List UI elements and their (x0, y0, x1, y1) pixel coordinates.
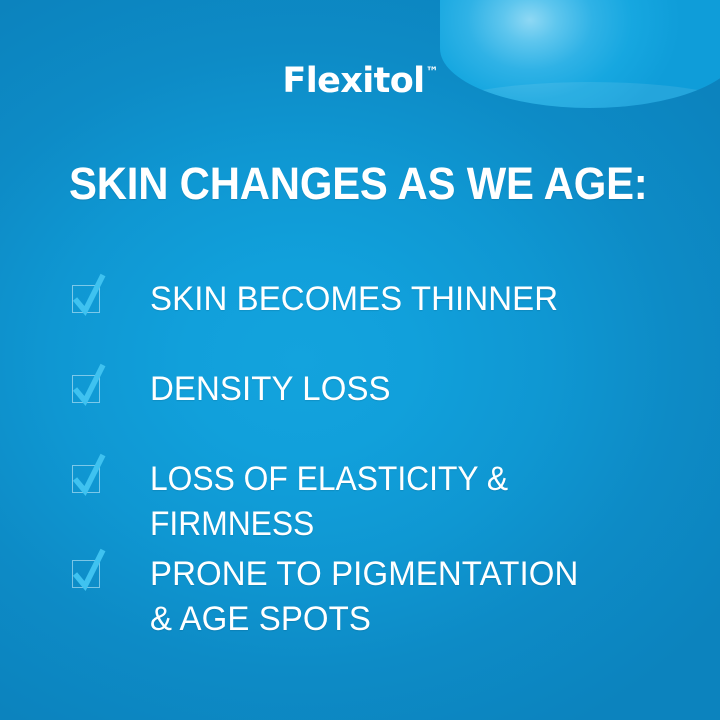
checklist: SKIN BECOMES THINNER DENSITY LOSS LOSS O… (70, 272, 710, 647)
checklist-item-label-4-line1: PRONE TO PIGMENTATION (150, 555, 578, 593)
checklist-item-label-2: DENSITY LOSS (150, 362, 693, 412)
checklist-item-4: PRONE TO PIGMENTATION & AGE SPOTS (70, 547, 710, 647)
checklist-item-3: LOSS OF ELASTICITY & FIRMNESS (70, 452, 710, 547)
checklist-item-label-3: LOSS OF ELASTICITY & FIRMNESS (150, 452, 674, 547)
checkmark-icon (69, 452, 115, 500)
brand-name-text: Flexitol (282, 61, 424, 101)
checkmark-icon (69, 547, 115, 595)
poster-canvas: Flexitol™ SKIN CHANGES AS WE AGE: SKIN B… (0, 0, 720, 720)
page-title: SKIN CHANGES AS WE AGE: (69, 160, 648, 208)
checkbox-2[interactable] (70, 362, 150, 412)
checklist-item-label-1: SKIN BECOMES THINNER (150, 272, 693, 322)
checkbox-4[interactable] (70, 547, 150, 597)
checklist-item-2: DENSITY LOSS (70, 362, 710, 452)
checklist-item-label-4-line2: & AGE SPOTS (150, 597, 693, 642)
checkbox-3[interactable] (70, 452, 150, 502)
checkmark-icon (69, 272, 115, 320)
trademark-symbol: ™ (426, 65, 439, 80)
checkmark-icon (69, 362, 115, 410)
brand-wordmark: Flexitol™ (0, 64, 720, 99)
checklist-item-1: SKIN BECOMES THINNER (70, 272, 710, 362)
checkbox-1[interactable] (70, 272, 150, 322)
checklist-item-label-4: PRONE TO PIGMENTATION & AGE SPOTS (150, 547, 693, 642)
